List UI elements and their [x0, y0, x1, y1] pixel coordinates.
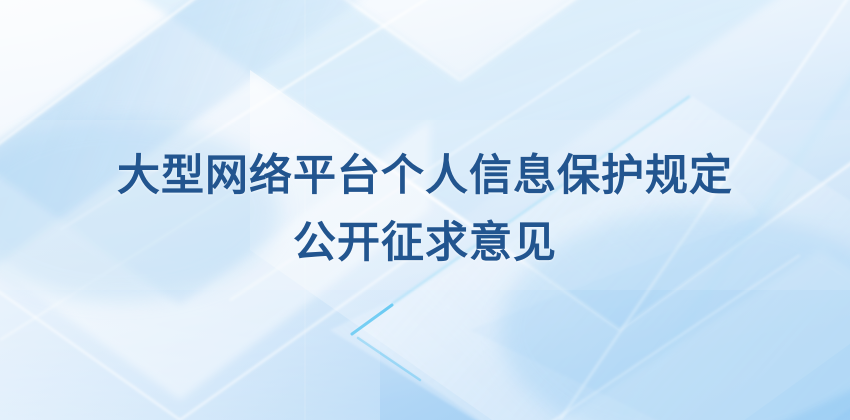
headline-veil: [0, 120, 850, 290]
background-graphic: [0, 0, 850, 420]
news-banner: 大型网络平台个人信息保护规定 公开征求意见: [0, 0, 850, 420]
